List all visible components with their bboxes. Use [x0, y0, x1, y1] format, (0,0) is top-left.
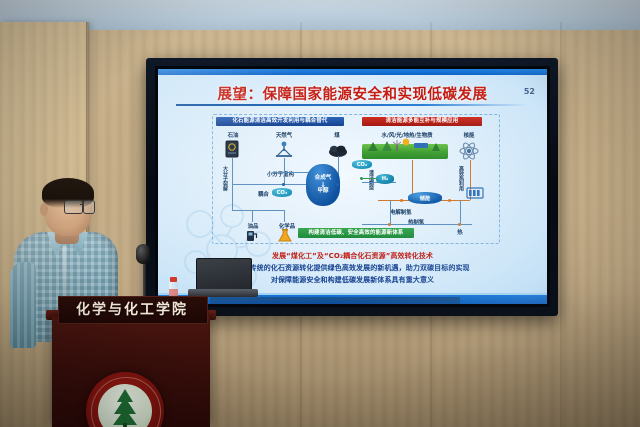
label-nuclear: 核能: [456, 131, 482, 139]
eyeglasses-lens-right: [83, 200, 95, 214]
eyeglasses-lens-left: [64, 200, 83, 214]
label-macro-cracking: 大分子裂解: [222, 166, 227, 191]
label-efficient-heat: 高效热利用: [458, 166, 463, 191]
node-co2-left: CO₂: [272, 188, 292, 197]
node-hydrogen: H₂: [376, 174, 394, 184]
speaker-arm: [10, 262, 36, 348]
banner-clean-energy: 清洁能源多能互补与规模应用: [362, 117, 482, 126]
podium-nameplate-text: 化学与化工学院: [58, 299, 206, 319]
slide-title: 展望：保障国家能源安全和实现低碳发展: [158, 83, 547, 104]
banner-new-energy-system: 构建清洁低碳、安全高效的能源新体系: [298, 228, 414, 238]
water-bottle-cap: [170, 277, 177, 282]
node-methanol-label: 甲醇: [317, 188, 328, 195]
label-petroleum: 石油: [220, 131, 246, 139]
label-heat: 热: [454, 228, 466, 236]
label-coupling: 耦合: [258, 190, 269, 198]
pine-tree-icon: [105, 386, 145, 427]
label-clean-combustion: 清洁燃烧: [368, 170, 373, 190]
gas-platform-icon: [274, 140, 294, 158]
speaker-ear: [40, 203, 48, 216]
ceiling: [0, 0, 640, 30]
slide-top-bar: [158, 69, 547, 75]
label-electrolysis-h2: 电解制氢: [390, 208, 412, 216]
photo-scene: 展望：保障国家能源安全和实现低碳发展 52 化石能源清洁高效开发利用与耦合替代 …: [0, 0, 640, 427]
coal-pile-icon: [328, 141, 348, 157]
slide-page-number: 52: [524, 87, 535, 96]
title-divider: [176, 104, 529, 106]
fuel-pump-icon: [246, 229, 258, 242]
nuclear-atom-icon: [458, 140, 480, 162]
energy-system-diagram: 化石能源清洁高效开发利用与耦合替代 清洁能源多能互补与规模应用 石油 天然气 煤…: [212, 114, 498, 242]
label-natural-gas: 天然气: [266, 131, 302, 139]
banner-fossil-energy: 化石能源清洁高效开发利用与耦合替代: [216, 117, 344, 126]
node-syngas-methanol: 合成气 ↓ 甲醇: [306, 164, 340, 206]
label-coal: 煤: [327, 131, 347, 139]
microphone-head: [136, 244, 150, 264]
eyeglasses-bridge: [80, 204, 84, 205]
table-front-edge: [210, 297, 460, 305]
node-co2-right: CO₂: [352, 160, 372, 169]
flask-icon: [278, 229, 292, 242]
laptop-screen[interactable]: [196, 258, 252, 293]
oil-barrel-icon: [224, 140, 240, 158]
battery-bank-icon: [466, 186, 484, 200]
renewable-icons: [362, 136, 448, 152]
node-energy-storage: 储能: [408, 192, 442, 204]
